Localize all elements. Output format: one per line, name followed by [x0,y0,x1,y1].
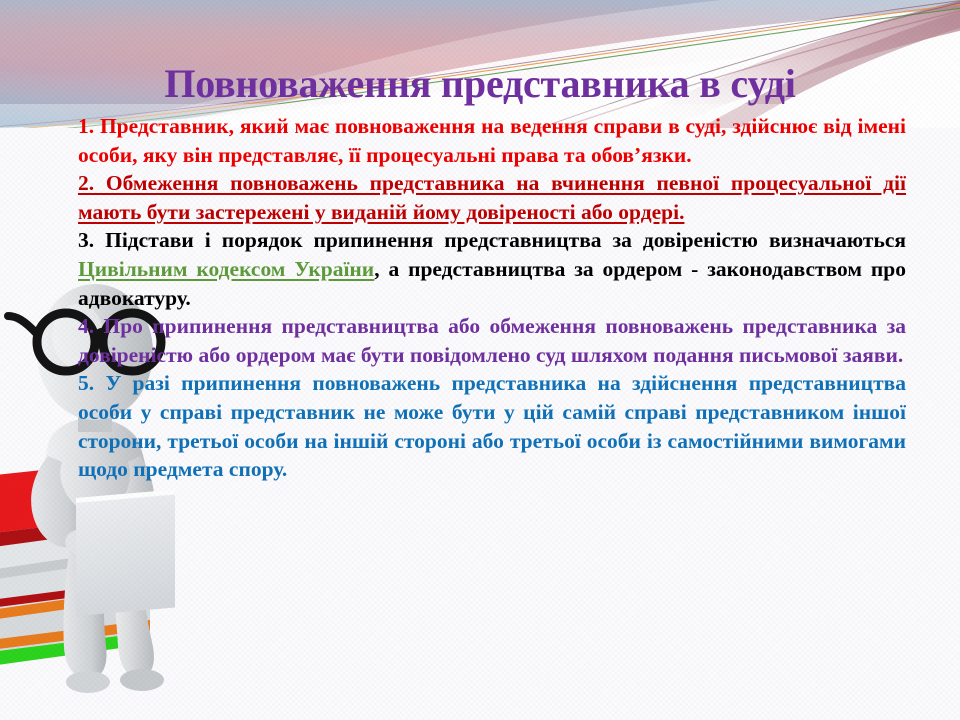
paragraph-4: 4. Про припинення представництва або обм… [78,312,906,369]
held-sign-board [76,486,175,616]
paragraph-2: 2. Обмеження повноважень представника на… [78,169,906,226]
book-stack [0,462,150,666]
civil-code-link[interactable]: Цивільним кодексом України [78,257,374,281]
paragraph-3-lead: 3. Підстави і порядок припинення предста… [78,228,906,252]
paragraph-5: 5. У разі припинення повноважень предста… [78,369,906,483]
slide-body: 1. Представник, який має повноваження на… [78,112,906,484]
slide-title: Повноваження представника в суді [0,60,960,108]
paragraph-3: 3. Підстави і порядок припинення предста… [78,226,906,312]
presentation-slide: Повноваження представника в суді [0,0,960,720]
paragraph-1: 1. Представник, який має повноваження на… [78,112,906,169]
